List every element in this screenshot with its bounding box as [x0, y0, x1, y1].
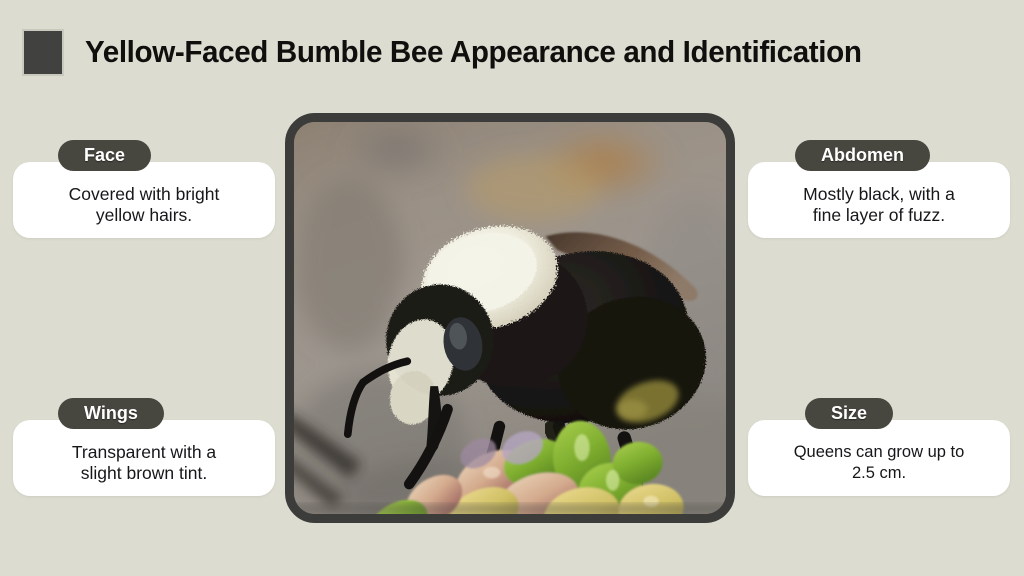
callout-card: Covered with bright yellow hairs.	[13, 162, 275, 238]
page-title: Yellow-Faced Bumble Bee Appearance and I…	[85, 30, 862, 74]
bumble-bee-photo-frame	[285, 113, 735, 523]
callout-description: Covered with bright yellow hairs.	[23, 184, 265, 226]
bumble-bee-photo	[294, 122, 726, 514]
callout-card: Transparent with a slight brown tint.	[13, 420, 275, 496]
square-bullet-icon	[22, 29, 64, 76]
callout-card: Mostly black, with a fine layer of fuzz.	[748, 162, 1010, 238]
page-header: Yellow-Faced Bumble Bee Appearance and I…	[0, 0, 1024, 100]
callout-description: Transparent with a slight brown tint.	[23, 442, 265, 484]
callout-label-abdomen: Abdomen	[795, 140, 930, 171]
callout-label-size: Size	[805, 398, 893, 429]
callout-label-wings: Wings	[58, 398, 164, 429]
callout-description: Queens can grow up to 2.5 cm.	[758, 442, 1000, 484]
callout-label-face: Face	[58, 140, 151, 171]
callout-card: Queens can grow up to 2.5 cm.	[748, 420, 1010, 496]
callout-description: Mostly black, with a fine layer of fuzz.	[758, 184, 1000, 226]
